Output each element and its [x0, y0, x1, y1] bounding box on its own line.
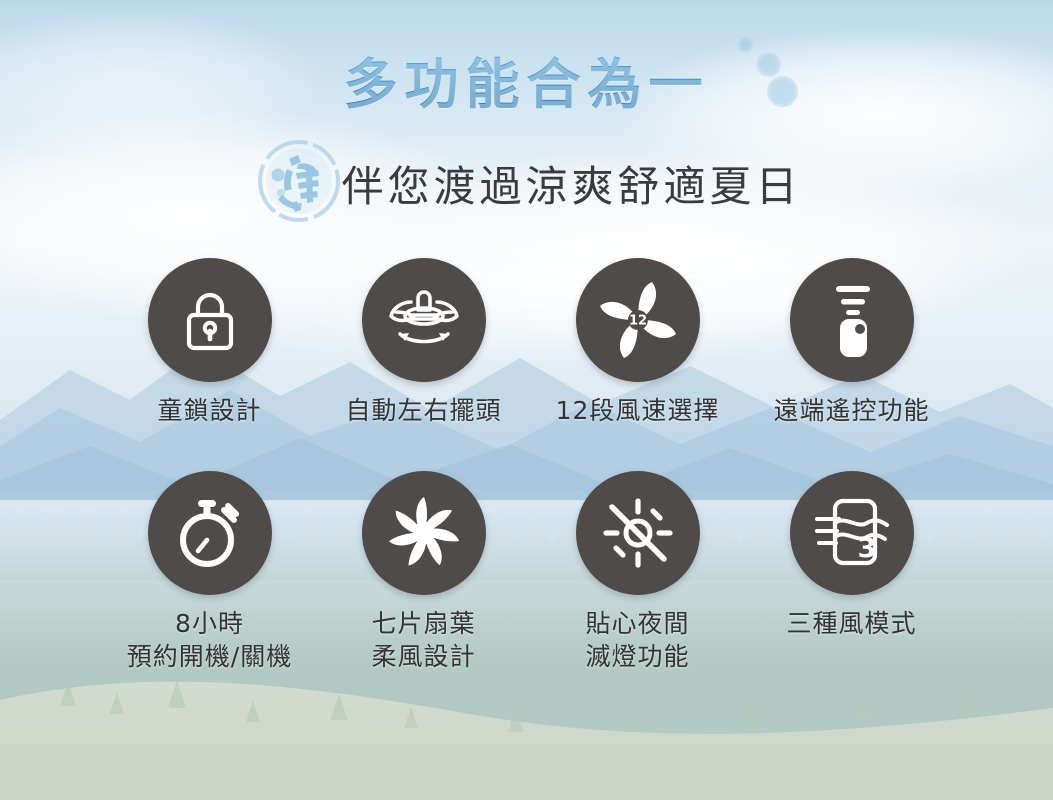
- feature-icon-badge: [148, 258, 272, 382]
- bubble-decoration: [737, 36, 754, 53]
- feature-icon-badge: 12: [576, 258, 700, 382]
- feature-icon-badge: [148, 471, 272, 595]
- feature-grid: 童鎖設計: [0, 258, 1053, 673]
- bubble-decoration: [756, 52, 781, 77]
- fan-speed-badge: 12: [628, 314, 646, 329]
- fan-blades-12-icon: 12: [594, 276, 682, 364]
- seven-blade-fan-icon: [381, 490, 467, 576]
- feature-night-light-off[interactable]: 貼心夜間 滅燈功能: [531, 471, 745, 673]
- feature-remote-control[interactable]: 遠端遙控功能: [745, 258, 959, 427]
- feature-icon-badge: [576, 471, 700, 595]
- bubble-decoration: [767, 76, 798, 107]
- feature-8h-timer[interactable]: 8小時 預約開機/關機: [103, 471, 317, 673]
- feature-icon-badge: [362, 258, 486, 382]
- feature-label: 七片扇葉 柔風設計: [371, 607, 475, 673]
- wind-modes-3-icon: 3: [809, 493, 895, 573]
- feature-child-lock[interactable]: 童鎖設計: [103, 258, 317, 427]
- feature-row-2: 8小時 預約開機/關機: [0, 471, 1053, 673]
- feature-label: 遠端遙控功能: [773, 394, 929, 427]
- wind-mode-badge: 3: [857, 533, 876, 564]
- feature-row-1: 童鎖設計: [0, 258, 1053, 427]
- sun-off-icon: [597, 492, 679, 574]
- feature-label: 童鎖設計: [157, 394, 261, 427]
- feature-three-wind-modes[interactable]: 3 三種風模式: [745, 471, 959, 640]
- feature-label: 三種風模式: [786, 607, 916, 640]
- feature-auto-oscillation[interactable]: 自動左右擺頭: [317, 258, 531, 427]
- feature-label: 12段風速選擇: [556, 394, 720, 427]
- remote-control-icon: [816, 280, 888, 360]
- feature-12-speed[interactable]: 12 12段風速選擇: [531, 258, 745, 427]
- feature-label: 貼心夜間 滅燈功能: [585, 607, 689, 673]
- oscillating-fan-head-icon: [384, 282, 464, 358]
- feature-seven-blades[interactable]: 七片扇葉 柔風設計: [317, 471, 531, 673]
- feature-icon-badge: [362, 471, 486, 595]
- feature-icon-badge: [790, 258, 914, 382]
- infographic-canvas: 多功能合為一 涼: [0, 0, 1053, 800]
- padlock-icon: [174, 284, 246, 356]
- feature-label: 8小時 預約開機/關機: [127, 607, 292, 673]
- stopwatch-icon: [172, 494, 248, 572]
- feature-icon-badge: 3: [790, 471, 914, 595]
- feature-label: 自動左右擺頭: [345, 394, 501, 427]
